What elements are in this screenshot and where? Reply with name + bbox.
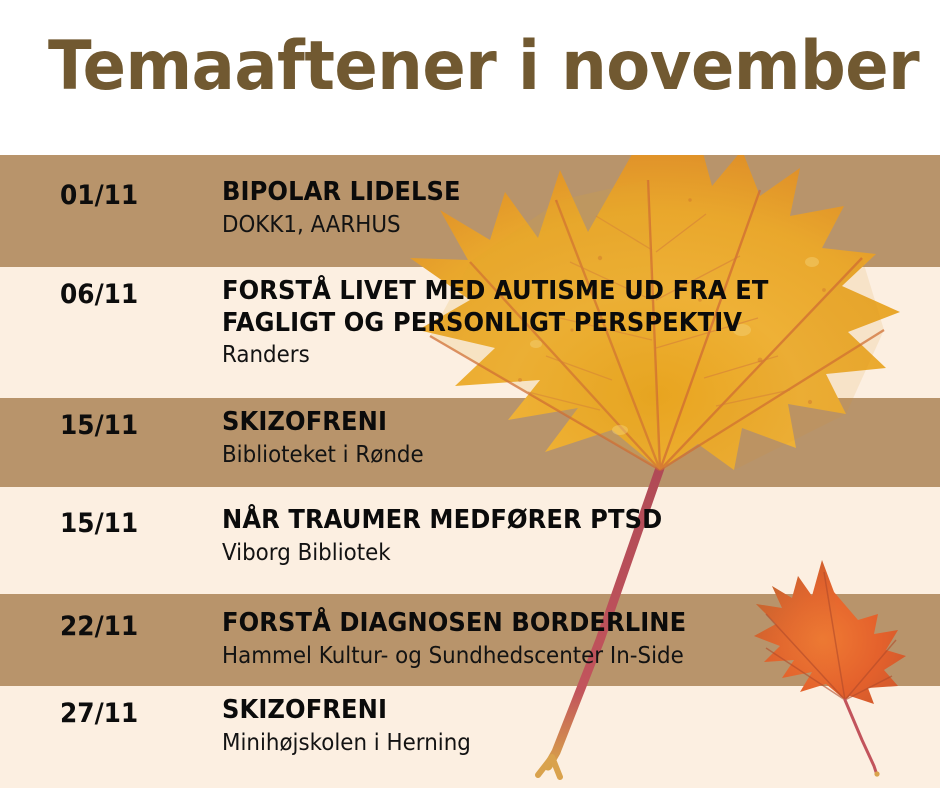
event-row-5[interactable]: 22/11 FORSTÅ DIAGNOSEN BORDERLINE Hammel… xyxy=(0,594,940,686)
event-title: BIPOLAR LIDELSE xyxy=(222,177,461,209)
event-body: BIPOLAR LIDELSE DOKK1, AARHUS xyxy=(222,177,479,239)
page-title: Temaaftener i november xyxy=(48,31,919,102)
event-date: 06/11 xyxy=(60,279,138,310)
event-body: FORSTÅ DIAGNOSEN BORDERLINE Hammel Kultu… xyxy=(222,608,721,670)
event-date: 01/11 xyxy=(60,180,138,211)
event-title: FORSTÅ LIVET MED AUTISME UD FRA ET FAGLI… xyxy=(222,276,768,339)
poster-canvas: 01/11 BIPOLAR LIDELSE DOKK1, AARHUS 06/1… xyxy=(0,0,940,788)
event-venue: Viborg Bibliotek xyxy=(222,540,662,568)
poster-header: Temaaftener i november xyxy=(0,0,940,155)
event-title: FORSTÅ DIAGNOSEN BORDERLINE xyxy=(222,608,686,640)
event-date: 22/11 xyxy=(60,611,138,642)
event-title: NÅR TRAUMER MEDFØRER PTSD xyxy=(222,505,662,537)
event-body: SKIZOFRENI Minihøjskolen i Herning xyxy=(222,695,490,757)
event-row-3[interactable]: 15/11 SKIZOFRENI Biblioteket i Rønde xyxy=(0,398,940,487)
event-row-1[interactable]: 01/11 BIPOLAR LIDELSE DOKK1, AARHUS xyxy=(0,155,940,267)
event-venue: DOKK1, AARHUS xyxy=(222,212,461,240)
event-date: 15/11 xyxy=(60,410,138,441)
event-body: NÅR TRAUMER MEDFØRER PTSD Viborg Bibliot… xyxy=(222,505,695,567)
event-title: SKIZOFRENI xyxy=(222,695,471,727)
event-row-6[interactable]: 27/11 SKIZOFRENI Minihøjskolen i Herning xyxy=(0,686,940,788)
event-venue: Biblioteket i Rønde xyxy=(222,442,424,470)
event-body: SKIZOFRENI Biblioteket i Rønde xyxy=(222,407,439,469)
event-venue: Randers xyxy=(222,342,768,370)
event-date: 15/11 xyxy=(60,508,138,539)
event-title: SKIZOFRENI xyxy=(222,407,424,439)
event-row-2[interactable]: 06/11 FORSTÅ LIVET MED AUTISME UD FRA ET… xyxy=(0,267,940,398)
event-venue: Minihøjskolen i Herning xyxy=(222,730,471,758)
event-date: 27/11 xyxy=(60,698,138,729)
event-venue: Hammel Kultur- og Sundhedscenter In-Side xyxy=(222,643,686,671)
event-body: FORSTÅ LIVET MED AUTISME UD FRA ET FAGLI… xyxy=(222,276,810,370)
event-row-4[interactable]: 15/11 NÅR TRAUMER MEDFØRER PTSD Viborg B… xyxy=(0,487,940,594)
